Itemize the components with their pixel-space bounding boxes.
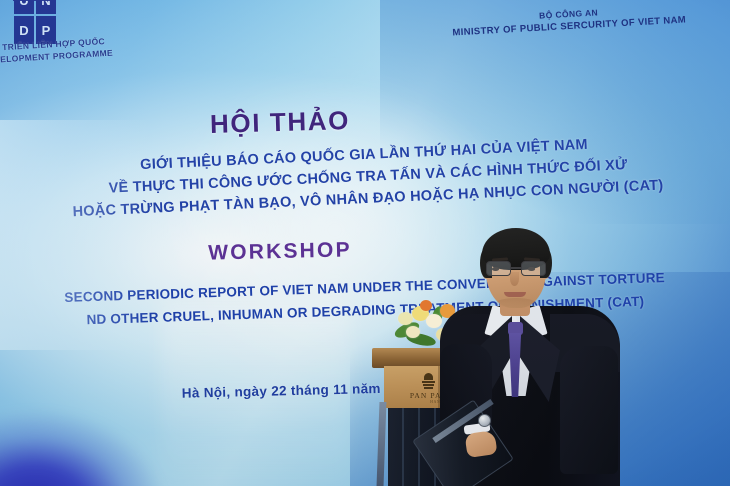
- ministry-header: BỘ CÔNG AN MINISTRY OF PUBLIC SERCURITY …: [452, 2, 687, 39]
- speaker-hand: [464, 430, 497, 458]
- glasses-bridge: [511, 267, 521, 269]
- speaker-mouth: [504, 292, 526, 297]
- wristwatch-icon: [478, 414, 491, 427]
- podium-leg-left: [377, 402, 387, 486]
- speaker-chin-shadow: [496, 298, 536, 308]
- podium-base-stripe: [402, 408, 404, 486]
- undp-logo-top-row: [13, 0, 56, 1]
- undp-logo-letter-u: U: [14, 0, 34, 14]
- undp-logo-letter-n: N: [36, 0, 56, 14]
- speaker-person: [432, 218, 632, 486]
- speaker-arm-right: [560, 346, 618, 474]
- conference-photo: U N D P H PHÁT TRIỂN LIÊN HỢP QUỐC NS DE…: [0, 0, 730, 486]
- flower-bloom: [398, 312, 413, 325]
- undp-caption: H PHÁT TRIỂN LIÊN HỢP QUỐC NS DEVELOPMEN…: [0, 35, 113, 68]
- glasses-lens-left: [486, 261, 511, 276]
- glasses-lens-right: [521, 261, 546, 276]
- flower-bloom: [406, 326, 420, 338]
- speaker-nose: [510, 272, 519, 286]
- flower-bloom: [420, 300, 432, 311]
